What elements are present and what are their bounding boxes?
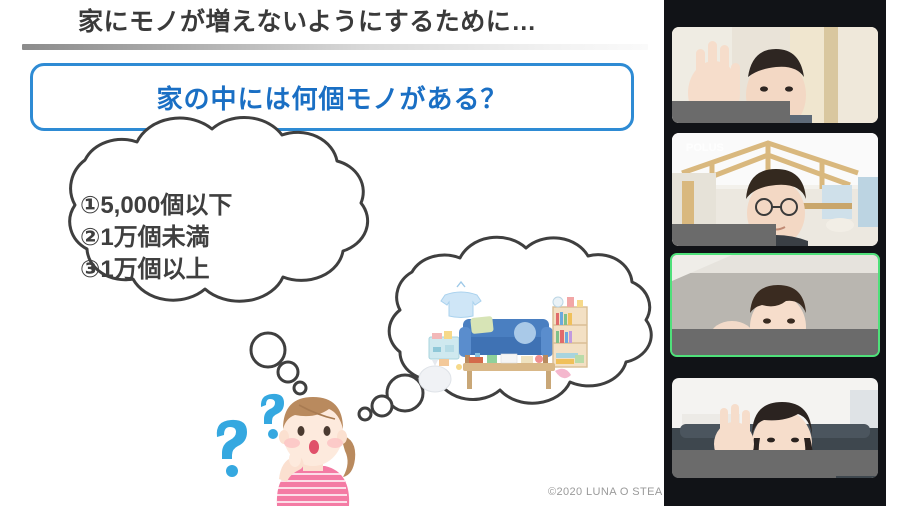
video-participants-panel: POLUS (664, 0, 886, 506)
answer-option-2: ②1万個未満 (80, 222, 340, 254)
answer-option-3: ③1万個以上 (80, 254, 340, 286)
question-box: 家の中には何個モノがある？ (30, 63, 634, 131)
copyright-text: ©2020 LUNA O STEA (548, 486, 663, 498)
answer-option-1: ①5,000個以下 (80, 190, 340, 222)
page-title: 家にモノが増えないようにするために… (78, 4, 648, 40)
video-tile-1[interactable] (672, 27, 878, 123)
thinking-woman-illustration (205, 383, 360, 506)
video-tile-2[interactable]: POLUS (672, 133, 878, 246)
polus-watermark: POLUS (686, 142, 724, 154)
title-divider (22, 44, 648, 50)
screenshot-root: 家にモノが増えないようにするために… 家の中には何個モノがある？ (0, 0, 900, 506)
room-illustration (405, 275, 595, 395)
participant-name-bar-3 (672, 333, 828, 355)
coffee-table-icon (463, 353, 555, 389)
answer-list: ①5,000個以下 ②1万個未満 ③1万個以上 (80, 190, 340, 286)
question-text: 家の中には何個モノがある？ (156, 79, 507, 116)
video-tile-3[interactable] (670, 253, 880, 357)
participant-name-bar-2 (672, 224, 776, 246)
right-gutter (886, 0, 900, 506)
question-mark-icon (217, 394, 284, 477)
presentation-slide: 家にモノが増えないようにするために… 家の中には何個モノがある？ (0, 0, 664, 506)
participant-name-bar-1 (672, 101, 790, 123)
video-tile-4[interactable] (672, 378, 878, 478)
hanging-shirt-icon (441, 282, 481, 318)
participant-name-bar-4 (672, 456, 836, 478)
